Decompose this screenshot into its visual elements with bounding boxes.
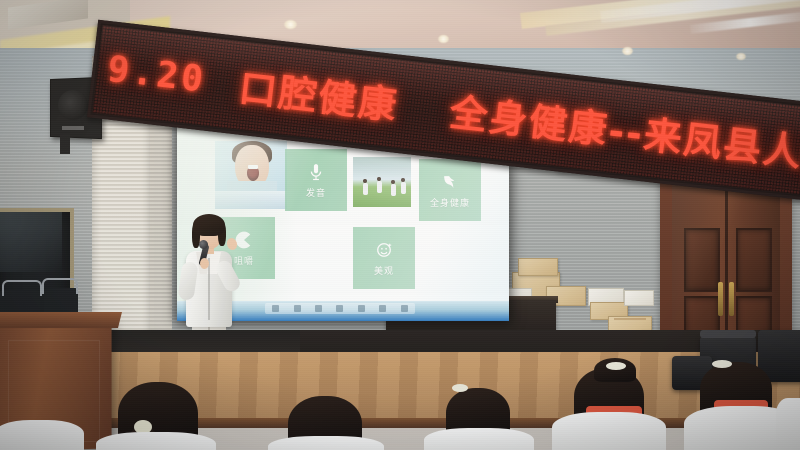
toolbar-more-icon[interactable] bbox=[401, 305, 408, 312]
child-shirt bbox=[96, 432, 216, 450]
microphone-head bbox=[199, 240, 208, 249]
toolbar-prev-icon[interactable] bbox=[315, 305, 322, 312]
lectern-top-surface bbox=[0, 312, 122, 328]
child-shirt bbox=[268, 436, 384, 450]
presenter-coat-button-line bbox=[208, 258, 210, 320]
toolbar-menu-icon[interactable] bbox=[358, 305, 365, 312]
supply-box-white bbox=[624, 290, 654, 306]
chair-armrest bbox=[2, 280, 42, 296]
hair-clip bbox=[452, 384, 468, 392]
toolbar-pen-icon[interactable] bbox=[294, 305, 301, 312]
chair-headrest bbox=[700, 330, 756, 338]
ceiling-spot-4 bbox=[736, 53, 746, 60]
toolbar-next-icon[interactable] bbox=[336, 305, 343, 312]
child-shirt bbox=[552, 412, 666, 450]
chair-armrest bbox=[42, 278, 78, 294]
hair-clip bbox=[712, 360, 732, 368]
photo-scene: 牙齿的作用 bbox=[0, 0, 800, 450]
presentation-toolbar[interactable] bbox=[265, 303, 415, 314]
box-strap bbox=[614, 318, 646, 320]
child-shirt bbox=[0, 420, 84, 450]
toolbar-zoom-icon[interactable] bbox=[379, 305, 386, 312]
toolbar-cursor-icon[interactable] bbox=[272, 305, 279, 312]
supply-box bbox=[518, 258, 558, 276]
presenter-hand-raised bbox=[225, 237, 239, 252]
wall-dark-panel-glare bbox=[0, 212, 62, 272]
presenter-hand-holding-mic bbox=[200, 258, 209, 269]
child-shirt bbox=[776, 398, 800, 450]
presenter-hair bbox=[193, 214, 225, 236]
ceiling-spot-1 bbox=[284, 20, 297, 29]
hair-tie bbox=[606, 362, 626, 370]
ceiling-spot-2 bbox=[438, 35, 449, 43]
speaker-mount-left bbox=[60, 134, 70, 154]
ceiling-spot-3 bbox=[622, 47, 633, 55]
child-shirt bbox=[424, 428, 534, 450]
